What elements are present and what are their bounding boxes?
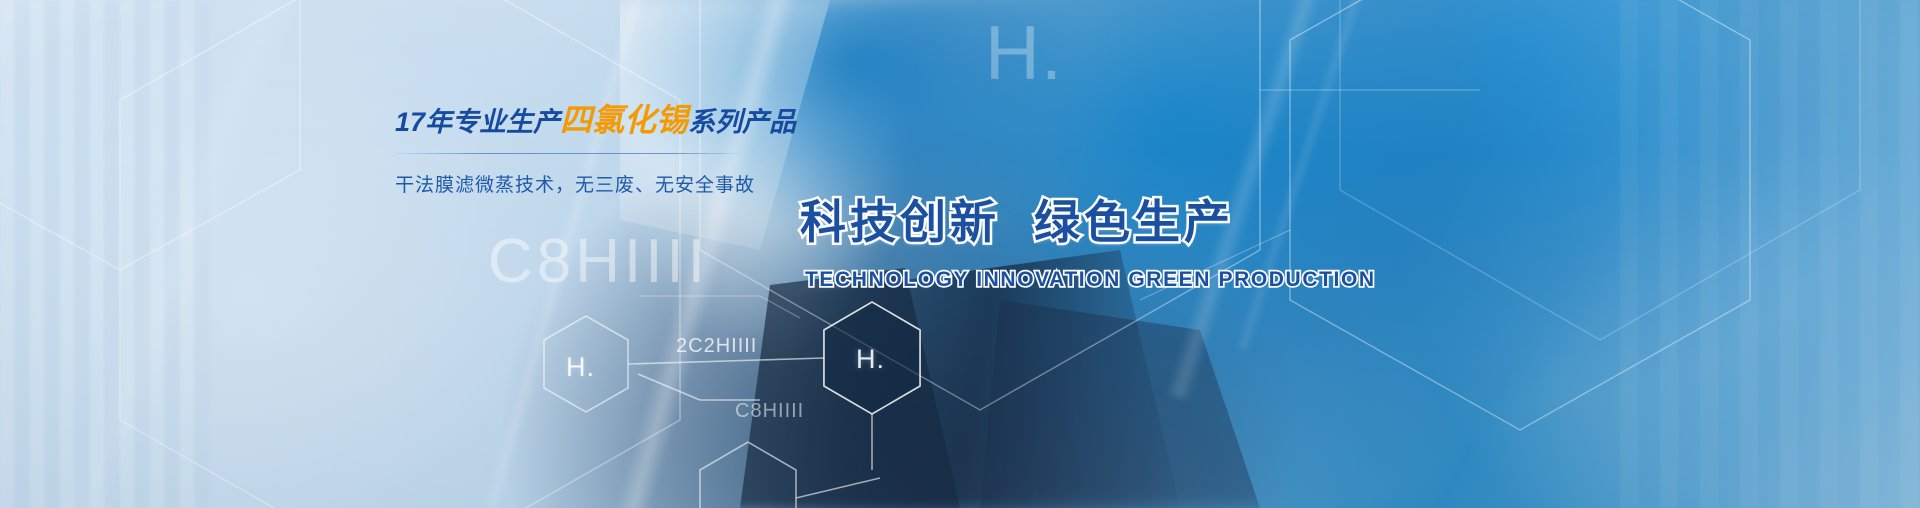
- right-copy-block: 科技创新绿色生产 TECHNOLOGY INNOVATION GREEN PRO…: [800, 186, 1376, 292]
- left-headline-highlight: 四氯化锡: [560, 102, 688, 138]
- hex-label-left: H.: [566, 352, 595, 383]
- watermark-formula-mid: 2C2HIIII: [676, 335, 757, 358]
- slogan-chinese-part2: 绿色生产: [1034, 196, 1234, 248]
- left-headline-prefix: 17年专业生产: [395, 107, 560, 137]
- slogan-chinese-part1: 科技创新: [800, 196, 1000, 248]
- left-headline-suffix: 系列产品: [688, 107, 796, 137]
- watermark-formula-big: C8HIIII: [488, 226, 709, 297]
- left-subline: 干法膜滤微蒸技术，无三废、无安全事故: [395, 170, 740, 197]
- left-headline: 17年专业生产四氯化锡系列产品: [395, 100, 755, 140]
- watermark-h-top: H.: [985, 10, 1063, 97]
- divider-rule: [395, 153, 740, 154]
- watermark-formula-bottom: C8HIIII: [735, 400, 804, 423]
- slogan-chinese: 科技创新绿色生产: [800, 186, 1376, 252]
- slogan-english: TECHNOLOGY INNOVATION GREEN PRODUCTION: [805, 268, 1376, 292]
- left-copy-block: 17年专业生产四氯化锡系列产品 干法膜滤微蒸技术，无三废、无安全事故: [395, 100, 755, 197]
- hex-label-right: H.: [856, 344, 885, 375]
- hero-banner: H. C8HIIII 2C2HIIII C8HIIII H. H. 17年专业生…: [0, 0, 1920, 508]
